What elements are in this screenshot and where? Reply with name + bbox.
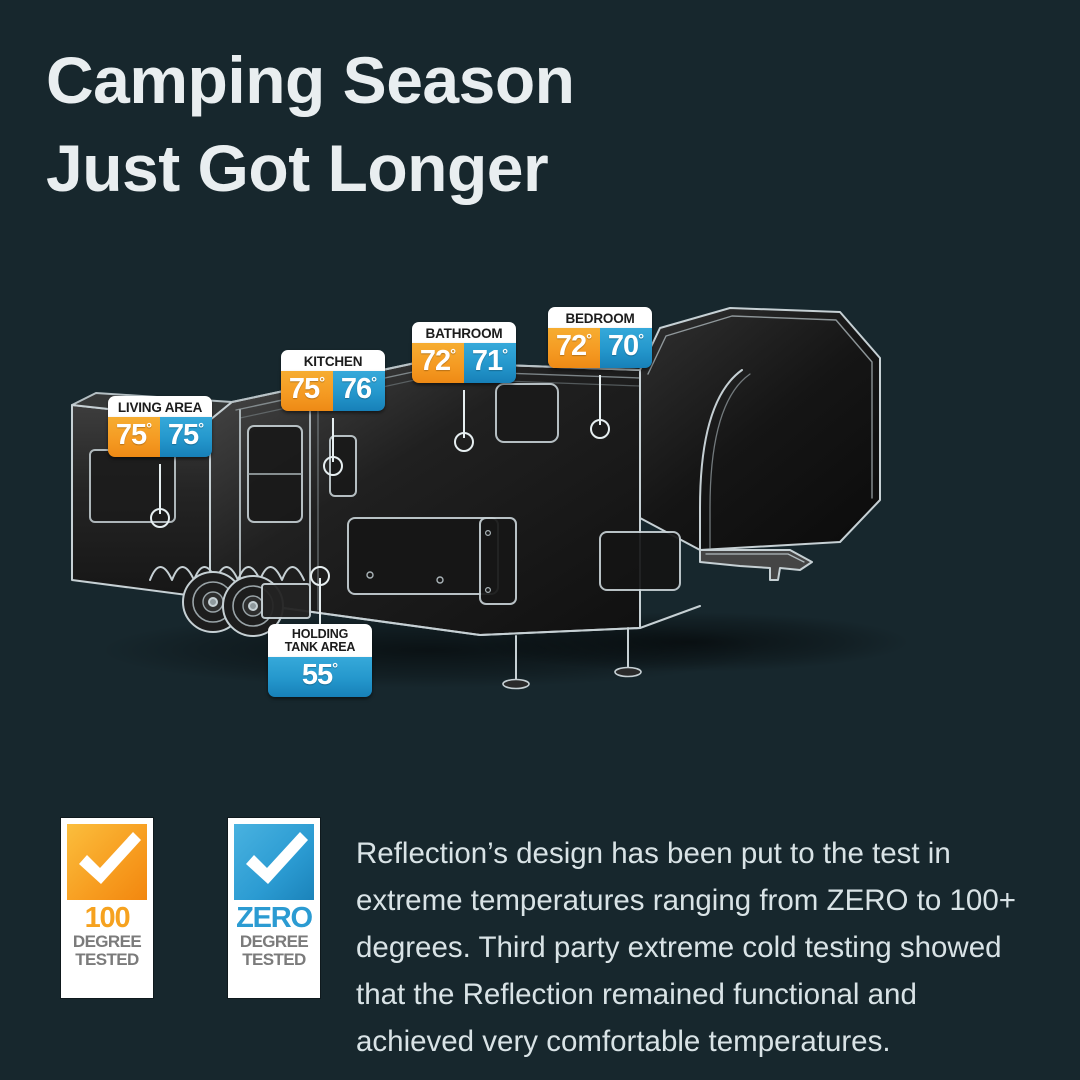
seal-line-2: TESTED bbox=[67, 951, 147, 969]
callout-label: BEDROOM bbox=[548, 307, 652, 328]
callout-temperatures: 72° 70° bbox=[548, 328, 652, 368]
seal-headline: 100 bbox=[67, 903, 147, 933]
callout-holding-tank-area[interactable]: HOLDING TANK AREA 55° bbox=[268, 624, 372, 697]
body-copy: Reflection’s design has been put to the … bbox=[356, 830, 1016, 1065]
callout-label: KITCHEN bbox=[281, 350, 385, 371]
seal-line-1: DEGREE bbox=[234, 933, 314, 951]
leader-line bbox=[463, 390, 465, 438]
callout-label: LIVING AREA bbox=[108, 396, 212, 417]
page-title: Camping Season Just Got Longer bbox=[46, 36, 946, 212]
temp-cell-cold: 76° bbox=[333, 371, 385, 411]
leader-ring bbox=[150, 508, 170, 528]
seal-line-2: TESTED bbox=[234, 951, 314, 969]
temp-cell-warm: 72° bbox=[412, 343, 464, 383]
temp-cell-warm: 75° bbox=[108, 417, 160, 457]
leader-line bbox=[599, 375, 601, 425]
seal-100-degree-tested: 100 DEGREE TESTED bbox=[61, 818, 153, 998]
callout-bedroom[interactable]: BEDROOM 72° 70° bbox=[548, 307, 652, 368]
seal-headline: ZERO bbox=[234, 903, 314, 933]
callout-temperatures: 75° 75° bbox=[108, 417, 212, 457]
temp-cell-cold: 71° bbox=[464, 343, 516, 383]
callout-label-line-2: TANK AREA bbox=[270, 641, 370, 654]
headline-line-1: Camping Season bbox=[46, 36, 946, 124]
headline-line-2: Just Got Longer bbox=[46, 124, 946, 212]
temp-cell-cold: 70° bbox=[600, 328, 652, 368]
checkmark-icon bbox=[234, 824, 314, 900]
callout-temperatures: 72° 71° bbox=[412, 343, 516, 383]
temp-cell-warm: 75° bbox=[281, 371, 333, 411]
seal-line-1: DEGREE bbox=[67, 933, 147, 951]
temp-cell-warm: 72° bbox=[548, 328, 600, 368]
callout-label: HOLDING TANK AREA bbox=[268, 624, 372, 657]
callout-kitchen[interactable]: KITCHEN 75° 76° bbox=[281, 350, 385, 411]
callout-temperatures: 75° 76° bbox=[281, 371, 385, 411]
callout-temperatures: 55° bbox=[268, 657, 372, 697]
bottom-section: 100 DEGREE TESTED ZERO DEGREE TESTED Ref… bbox=[0, 812, 1080, 1080]
callout-bathroom[interactable]: BATHROOM 72° 71° bbox=[412, 322, 516, 383]
seal-zero-degree-tested: ZERO DEGREE TESTED bbox=[228, 818, 320, 998]
temp-cell-cold: 75° bbox=[160, 417, 212, 457]
leader-ring bbox=[454, 432, 474, 452]
leader-ring bbox=[323, 456, 343, 476]
leader-line bbox=[159, 464, 161, 514]
leader-ring bbox=[310, 566, 330, 586]
temp-cell-cold: 55° bbox=[268, 657, 372, 697]
rv-illustration bbox=[0, 250, 1080, 740]
callout-label: BATHROOM bbox=[412, 322, 516, 343]
callout-living-area[interactable]: LIVING AREA 75° 75° bbox=[108, 396, 212, 457]
leader-ring bbox=[590, 419, 610, 439]
checkmark-icon bbox=[67, 824, 147, 900]
